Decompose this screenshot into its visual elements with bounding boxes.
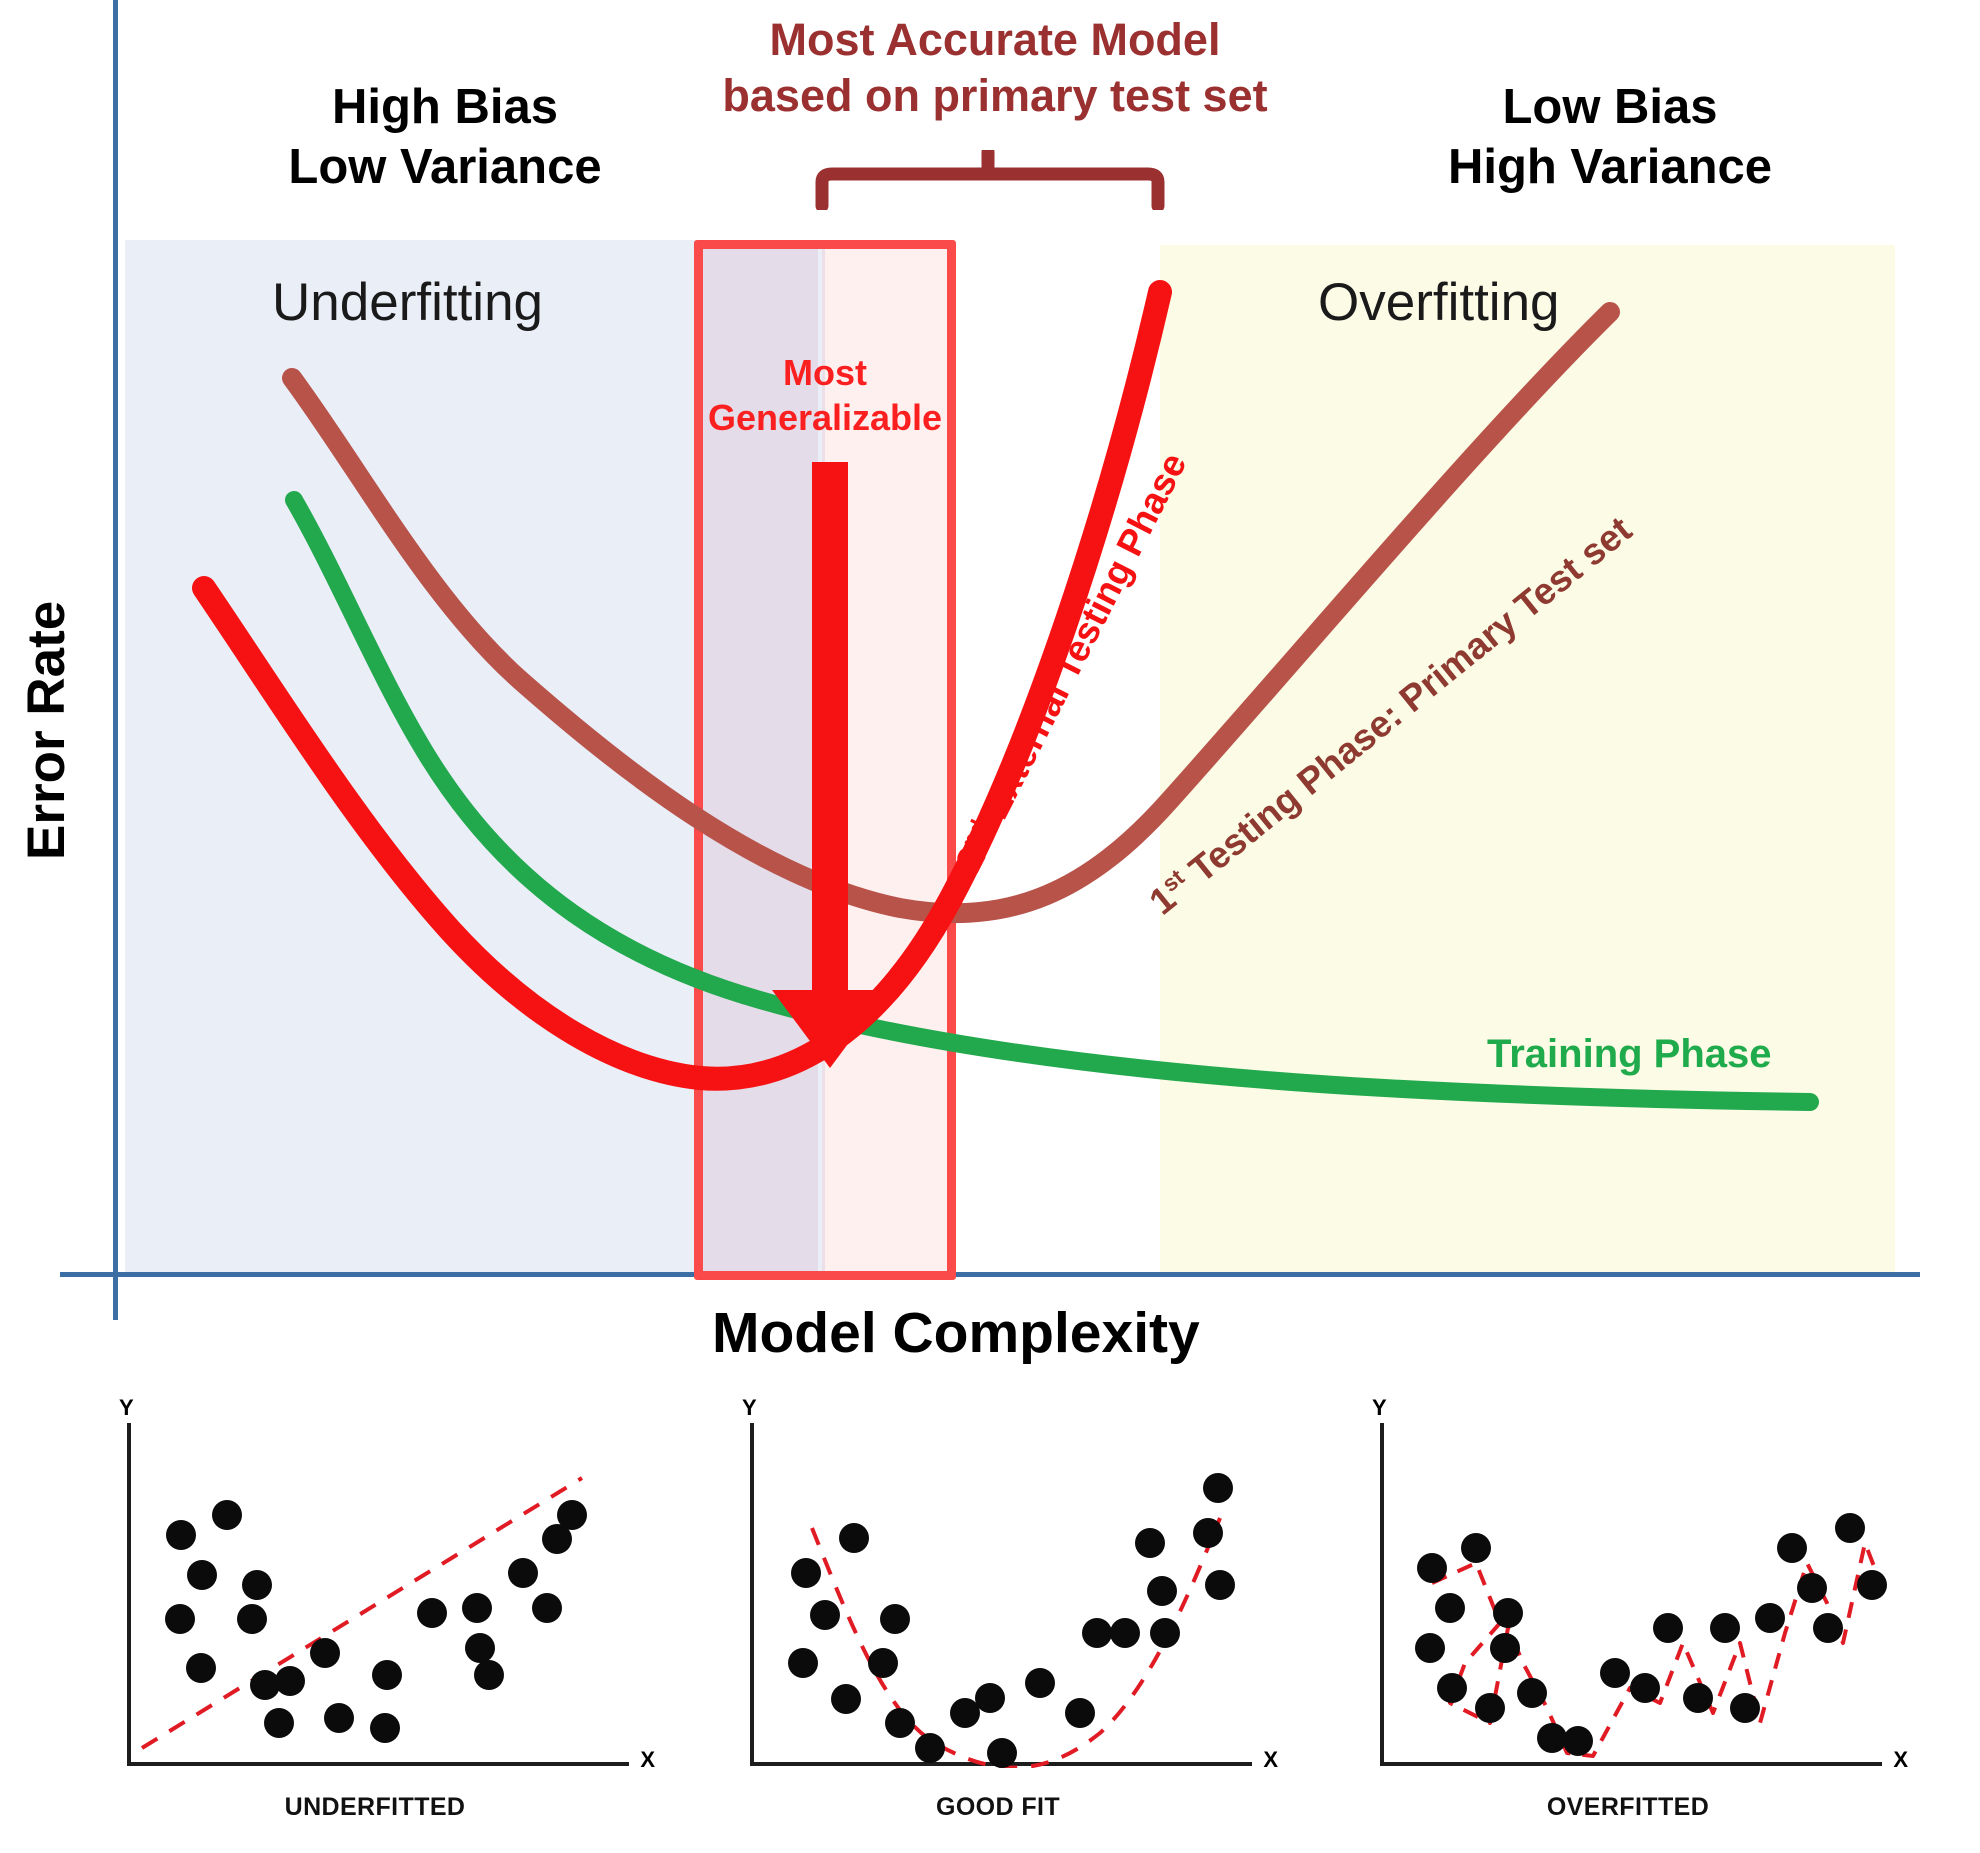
scatter-point [1110, 1618, 1140, 1648]
mini-y-axis-label: Y [742, 1395, 757, 1421]
scatter-point [1025, 1668, 1055, 1698]
scatter-point [1563, 1726, 1593, 1756]
scatter-point [557, 1500, 587, 1530]
scatter-point [462, 1593, 492, 1623]
scatter-point [212, 1500, 242, 1530]
scatter-point [1755, 1603, 1785, 1633]
scatter-point [1517, 1678, 1547, 1708]
mini-plot-underfitted: Y X UNDERFITTED [95, 1395, 655, 1845]
scatter-point [810, 1600, 840, 1630]
scatter-point [264, 1708, 294, 1738]
scatter-point [1813, 1613, 1843, 1643]
first-testing-phase-curve [292, 312, 1610, 913]
scatter-point [880, 1604, 910, 1634]
scatter-point [831, 1684, 861, 1714]
second-testing-phase-curve [204, 292, 1160, 1079]
mini-points [750, 1423, 1250, 1763]
scatter-point [1147, 1576, 1177, 1606]
mini-y-axis-label: Y [1372, 1395, 1387, 1421]
scatter-point [324, 1703, 354, 1733]
scatter-point [1777, 1533, 1807, 1563]
mini-x-axis-label: X [1893, 1747, 1908, 1773]
scatter-point [1475, 1693, 1505, 1723]
scatter-point [839, 1523, 869, 1553]
scatter-point [1437, 1673, 1467, 1703]
scatter-point [1683, 1683, 1713, 1713]
scatter-point [915, 1733, 945, 1763]
scatter-point [1193, 1518, 1223, 1548]
error-curves [0, 0, 1980, 1340]
mini-plot-overfitted: Y X OVERFITTED [1348, 1395, 1908, 1845]
mini-caption: GOOD FIT [718, 1793, 1278, 1822]
scatter-point [1135, 1528, 1165, 1558]
scatter-point [166, 1520, 196, 1550]
scatter-point [1600, 1658, 1630, 1688]
most-generalizable-arrow [772, 462, 888, 1068]
mini-x-axis-label: X [640, 1747, 655, 1773]
scatter-point [1493, 1598, 1523, 1628]
scatter-point [1205, 1570, 1235, 1600]
scatter-point [1730, 1693, 1760, 1723]
mini-points [127, 1423, 627, 1763]
scatter-point [1065, 1698, 1095, 1728]
scatter-point [788, 1648, 818, 1678]
scatter-point [1203, 1473, 1233, 1503]
scatter-point [237, 1604, 267, 1634]
mini-caption: UNDERFITTED [95, 1793, 655, 1822]
scatter-point [1461, 1533, 1491, 1563]
mini-points [1380, 1423, 1880, 1763]
scatter-point [1710, 1613, 1740, 1643]
scatter-point [275, 1666, 305, 1696]
scatter-point [1653, 1613, 1683, 1643]
scatter-point [532, 1593, 562, 1623]
scatter-point [1630, 1673, 1660, 1703]
scatter-point [474, 1660, 504, 1690]
scatter-point [1490, 1633, 1520, 1663]
scatter-point [165, 1604, 195, 1634]
scatter-point [975, 1683, 1005, 1713]
scatter-point [372, 1660, 402, 1690]
scatter-point [1415, 1633, 1445, 1663]
scatter-point [987, 1738, 1017, 1768]
scatter-point [186, 1653, 216, 1683]
scatter-point [1082, 1618, 1112, 1648]
scatter-point [1150, 1618, 1180, 1648]
scatter-point [310, 1638, 340, 1668]
scatter-point [868, 1648, 898, 1678]
scatter-point [370, 1713, 400, 1743]
mini-x-axis-label: X [1263, 1747, 1278, 1773]
scatter-point [885, 1708, 915, 1738]
scatter-point [417, 1598, 447, 1628]
mini-caption: OVERFITTED [1348, 1793, 1908, 1822]
mini-y-axis-label: Y [119, 1395, 134, 1421]
scatter-point [791, 1558, 821, 1588]
bias-variance-chart: Error Rate Model Complexity High Bias Lo… [0, 0, 1980, 1340]
scatter-point [1435, 1593, 1465, 1623]
scatter-point [1797, 1573, 1827, 1603]
mini-plot-good-fit: Y X GOOD FIT [718, 1395, 1278, 1845]
scatter-point [465, 1633, 495, 1663]
scatter-point [1857, 1570, 1887, 1600]
scatter-point [1417, 1553, 1447, 1583]
scatter-point [1835, 1513, 1865, 1543]
scatter-point [187, 1560, 217, 1590]
scatter-point [508, 1558, 538, 1588]
scatter-point [242, 1570, 272, 1600]
training-phase-label: Training Phase [1487, 1032, 1772, 1077]
